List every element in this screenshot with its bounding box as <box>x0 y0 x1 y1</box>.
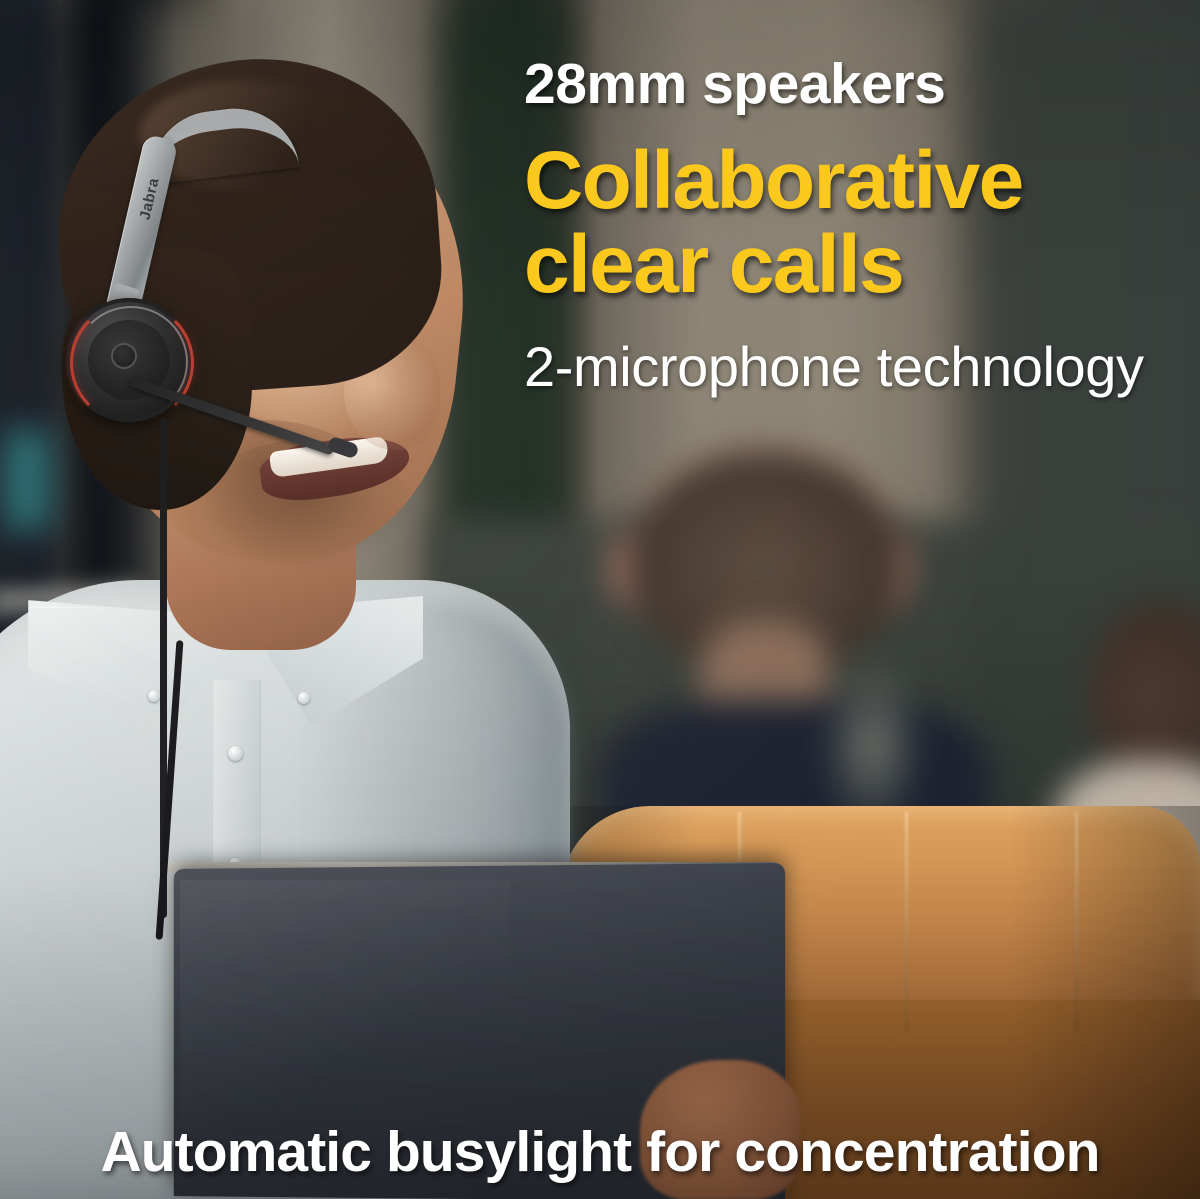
eyebrow-text: 28mm speakers <box>524 56 1184 113</box>
earcup-button-icon <box>111 343 137 369</box>
collar-button <box>148 690 160 702</box>
bottom-banner: Automatic busylight for concentration <box>0 1124 1200 1181</box>
product-feature-image: Jabra 28mm speakers Collaborative clear … <box>0 0 1200 1199</box>
marketing-copy-block: 28mm speakers Collaborative clear calls … <box>524 56 1184 399</box>
shirt-button <box>228 746 243 761</box>
banner-text: Automatic busylight for concentration <box>100 1124 1099 1181</box>
subline-text: 2-microphone technology <box>524 336 1184 399</box>
headline-text: Collaborative clear calls <box>524 139 1184 306</box>
collar-button <box>298 692 310 704</box>
